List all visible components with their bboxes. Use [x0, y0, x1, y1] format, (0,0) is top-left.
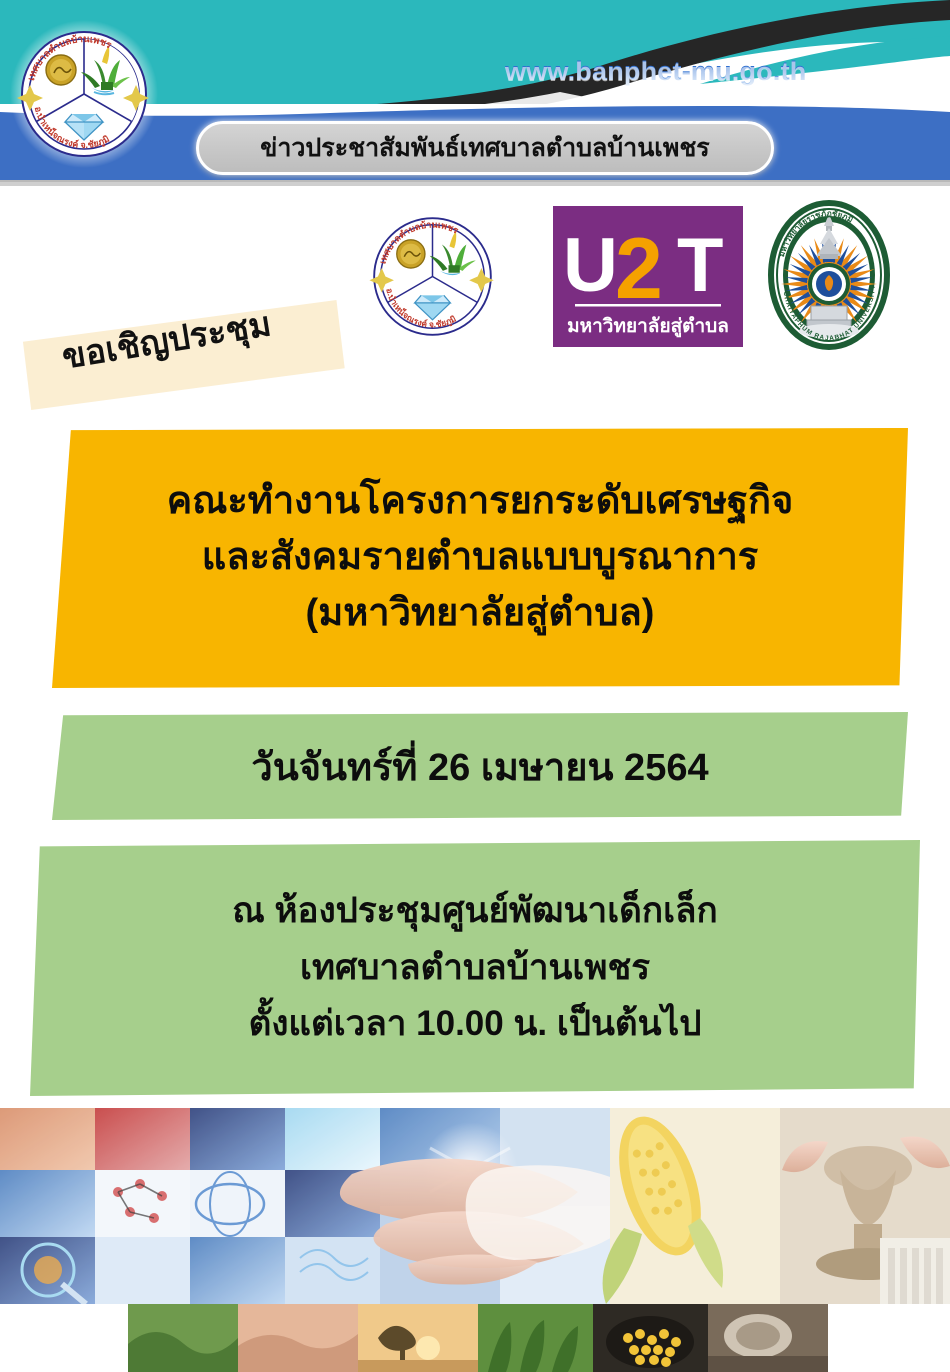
event-venue-block: ณ ห้องประชุมศูนย์พัฒนาเด็กเล็ก เทศบาลตำบ…	[30, 840, 920, 1096]
event-venue-line-1: ณ ห้องประชุมศูนย์พัฒนาเด็กเล็ก	[232, 883, 717, 940]
banphet-municipality-seal-icon: เทศบาลตำบลบ้านเพชร อ.บำเหน็จณรงค์ จ.ชัยภ…	[8, 18, 160, 170]
poster-header: www.banphet-mu.go.th ข่าวประชาสัมพันธ์เท…	[0, 0, 950, 186]
banner-title-text: ข่าวประชาสัมพันธ์เทศบาลตำบลบ้านเพชร	[260, 128, 709, 168]
u2t-letter-t: T	[677, 223, 723, 308]
banphet-municipality-seal-icon-small: เทศบาลตำบลบ้านเพชร อ.บำเหน็จณรงค์ จ.ชัยภ…	[360, 205, 505, 348]
collage-bottom-strip	[128, 1304, 828, 1372]
site-url-text: www.banphet-mu.go.th	[505, 56, 895, 87]
partner-logo-row: เทศบาลตำบลบ้านเพชร อ.บำเหน็จณรงค์ จ.ชัยภ…	[355, 200, 900, 350]
u2t-logo-icon: U 2 T มหาวิทยาลัยสู่ตำบล	[553, 206, 743, 347]
project-title-block: คณะทำงานโครงการยกระดับเศรษฐกิจ และสังคมร…	[52, 428, 908, 688]
banner-title-pill: ข่าวประชาสัมพันธ์เทศบาลตำบลบ้านเพชร	[196, 121, 774, 175]
poster-root: www.banphet-mu.go.th ข่าวประชาสัมพันธ์เท…	[0, 0, 950, 1372]
invitation-tab: ขอเชิญประชุม	[18, 300, 348, 410]
u2t-letter-u: U	[563, 223, 618, 308]
event-venue-line-2: เทศบาลตำบลบ้านเพชร	[300, 940, 650, 997]
collage-top-tiles	[0, 1108, 950, 1304]
project-title-line-2: และสังคมรายตำบลแบบบูรณาการ	[202, 530, 758, 586]
project-title-line-3: (มหาวิทยาลัยสู่ตำบล)	[306, 586, 655, 642]
u2t-subtitle: มหาวิทยาลัยสู่ตำบล	[567, 316, 729, 338]
chaiyaphum-rajabhat-university-seal-icon: มหาวิทยาลัยราชภัฏชัยภูมิ CHAIYAPHUM RAJA…	[759, 200, 899, 350]
u2t-letter-2: 2	[615, 221, 663, 317]
event-date-text: วันจันทร์ที่ 26 เมษายน 2564	[251, 736, 708, 797]
event-venue-line-3: ตั้งแต่เวลา 10.00 น. เป็นต้นไป	[249, 996, 702, 1053]
event-date-block: วันจันทร์ที่ 26 เมษายน 2564	[52, 712, 908, 820]
project-title-line-1: คณะทำงานโครงการยกระดับเศรษฐกิจ	[167, 474, 794, 530]
footer-photo-collage: มหาวิทยาลัย สู่ ตำ บ ล สร้างรากแก้วให้ปร…	[0, 1108, 950, 1372]
